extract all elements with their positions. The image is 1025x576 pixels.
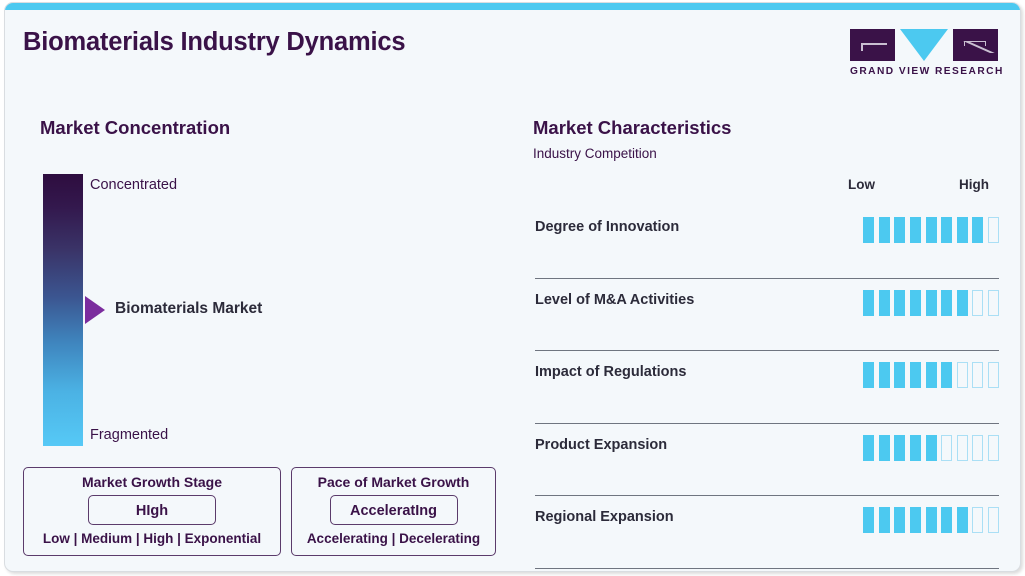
- market-concentration-heading: Market Concentration: [40, 117, 230, 139]
- rating-segment: [879, 362, 890, 388]
- characteristic-rating-bars: [863, 507, 999, 533]
- rating-segment: [926, 435, 937, 461]
- rating-segment: [910, 362, 921, 388]
- logo-marks: [850, 29, 998, 61]
- market-growth-stage-value: HIgh: [136, 503, 168, 519]
- rating-segment: [972, 507, 983, 533]
- characteristic-row: Degree of Innovation: [533, 206, 999, 279]
- pace-of-market-growth-title: Pace of Market Growth: [292, 474, 495, 490]
- rating-segment: [863, 507, 874, 533]
- rating-segment: [926, 507, 937, 533]
- characteristics-rows: Degree of InnovationLevel of M&A Activit…: [533, 206, 999, 569]
- rating-segment: [972, 290, 983, 316]
- rating-segment: [879, 435, 890, 461]
- scale-label-high: High: [959, 177, 989, 192]
- rating-segment: [988, 435, 999, 461]
- rating-segment: [910, 507, 921, 533]
- characteristic-row: Impact of Regulations: [533, 351, 999, 424]
- rating-segment: [941, 362, 952, 388]
- characteristic-label: Level of M&A Activities: [535, 292, 694, 308]
- characteristic-rating-bars: [863, 435, 999, 461]
- rating-segment: [910, 217, 921, 243]
- rating-segment: [863, 290, 874, 316]
- rating-segment: [910, 290, 921, 316]
- scale-label-concentrated: Concentrated: [90, 177, 177, 193]
- characteristic-row: Regional Expansion: [533, 496, 999, 569]
- rating-segment: [863, 217, 874, 243]
- rating-segment: [988, 507, 999, 533]
- characteristic-rating-bars: [863, 290, 999, 316]
- logo-triangle-icon: [900, 29, 948, 61]
- characteristic-row: Level of M&A Activities: [533, 279, 999, 352]
- rating-segment: [926, 217, 937, 243]
- row-separator: [535, 568, 999, 569]
- pace-of-market-growth-value: AcceleratIng: [350, 503, 437, 519]
- market-position-label: Biomaterials Market: [115, 300, 262, 318]
- rating-segment: [894, 507, 905, 533]
- market-position-arrow-icon: [85, 296, 105, 324]
- rating-segment: [988, 217, 999, 243]
- characteristic-label: Regional Expansion: [535, 509, 674, 525]
- market-characteristics-heading: Market Characteristics: [533, 117, 731, 139]
- top-accent-bar: [5, 3, 1020, 10]
- rating-segment: [926, 362, 937, 388]
- rating-segment: [957, 362, 968, 388]
- rating-segment: [941, 507, 952, 533]
- rating-segment: [894, 290, 905, 316]
- market-characteristics-subheading: Industry Competition: [533, 146, 657, 161]
- rating-segment: [988, 362, 999, 388]
- logo-text: GRAND VIEW RESEARCH: [850, 66, 998, 77]
- characteristic-rating-bars: [863, 362, 999, 388]
- characteristic-label: Impact of Regulations: [535, 364, 686, 380]
- rating-segment: [941, 290, 952, 316]
- scale-label-low: Low: [848, 177, 875, 192]
- rating-segment: [910, 435, 921, 461]
- rating-segment: [894, 362, 905, 388]
- pace-of-market-growth-scale: Accelerating | Decelerating: [292, 531, 495, 546]
- rating-segment: [879, 217, 890, 243]
- pace-of-market-growth-box: Pace of Market Growth AcceleratIng Accel…: [291, 467, 496, 556]
- characteristic-label: Degree of Innovation: [535, 219, 679, 235]
- market-growth-stage-title: Market Growth Stage: [24, 474, 280, 490]
- page-title: Biomaterials Industry Dynamics: [23, 28, 405, 57]
- rating-segment: [957, 290, 968, 316]
- infographic-card: Biomaterials Industry Dynamics GRAND VIE…: [4, 2, 1021, 572]
- market-growth-stage-scale: Low | Medium | High | Exponential: [24, 531, 280, 546]
- rating-segment: [941, 435, 952, 461]
- scale-label-fragmented: Fragmented: [90, 427, 168, 443]
- pace-of-market-growth-value-box: AcceleratIng: [330, 495, 458, 525]
- rating-segment: [926, 290, 937, 316]
- logo-r-block-icon: [953, 29, 998, 61]
- rating-segment: [894, 217, 905, 243]
- market-growth-stage-box: Market Growth Stage HIgh Low | Medium | …: [23, 467, 281, 556]
- characteristic-rating-bars: [863, 217, 999, 243]
- rating-segment: [972, 435, 983, 461]
- rating-segment: [941, 217, 952, 243]
- rating-segment: [972, 362, 983, 388]
- rating-segment: [988, 290, 999, 316]
- rating-segment: [863, 362, 874, 388]
- characteristic-label: Product Expansion: [535, 437, 667, 453]
- concentration-gradient-bar: [43, 174, 83, 446]
- rating-segment: [957, 217, 968, 243]
- rating-segment: [972, 217, 983, 243]
- rating-segment: [863, 435, 874, 461]
- market-growth-stage-value-box: HIgh: [88, 495, 216, 525]
- rating-segment: [879, 290, 890, 316]
- rating-segment: [879, 507, 890, 533]
- characteristic-row: Product Expansion: [533, 424, 999, 497]
- logo-g-block-icon: [850, 29, 895, 61]
- rating-segment: [957, 435, 968, 461]
- grand-view-research-logo: GRAND VIEW RESEARCH: [850, 29, 998, 79]
- rating-segment: [894, 435, 905, 461]
- rating-segment: [957, 507, 968, 533]
